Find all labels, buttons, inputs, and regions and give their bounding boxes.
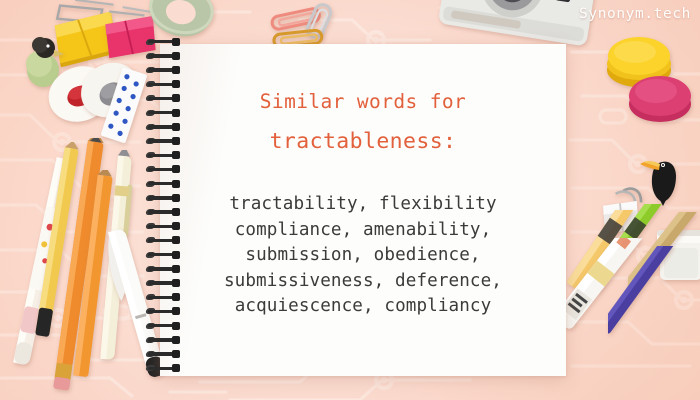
synonym-line: submission, obedience,	[160, 243, 566, 269]
card-title-prefix: Similar words for	[260, 90, 466, 113]
synonym-line: compliance, amenability,	[160, 218, 566, 244]
site-watermark: Synonym.tech	[579, 6, 691, 22]
synonym-line: acquiescence, compliancy	[160, 294, 566, 320]
pink-macaron	[622, 64, 698, 126]
synonym-list: tractability, flexibility compliance, am…	[160, 192, 566, 320]
desk-background: Similar words for tractableness: tractab…	[0, 0, 700, 400]
synonym-line: submissiveness, deference,	[160, 269, 566, 295]
card-headword: tractableness:	[270, 129, 457, 154]
white-marker	[560, 238, 700, 378]
synonym-card: Similar words for tractableness: tractab…	[160, 44, 566, 376]
synonym-line: tractability, flexibility	[160, 192, 566, 218]
